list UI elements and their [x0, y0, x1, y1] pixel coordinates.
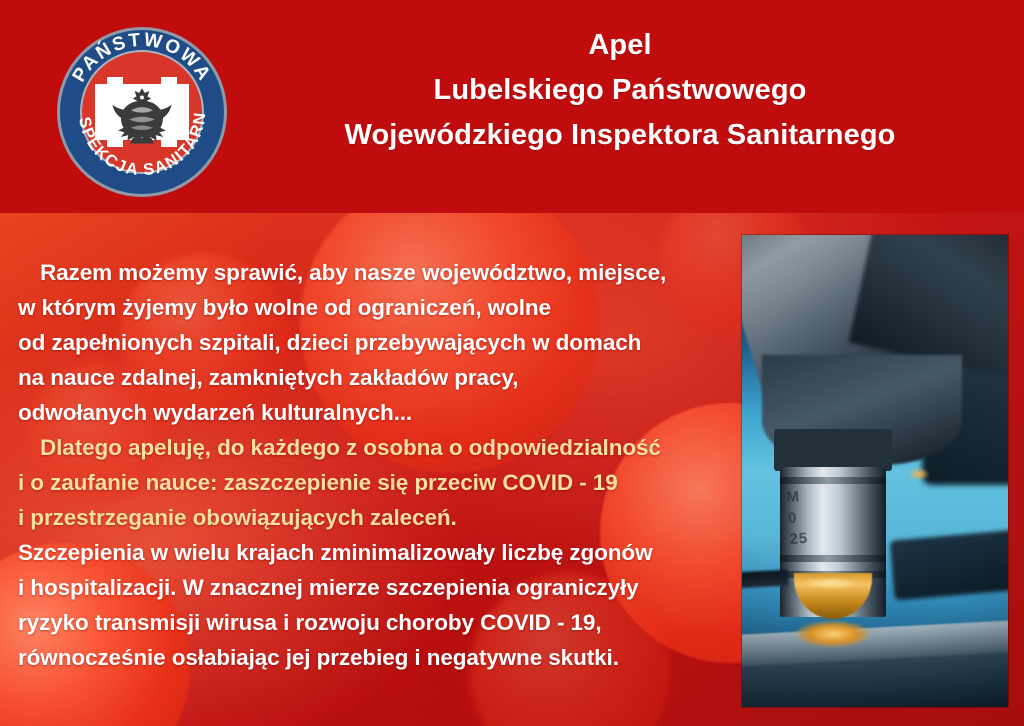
poster-body-text: Razem możemy sprawić, aby nasze wojewódz… — [0, 213, 740, 726]
text-line: i przestrzeganie obowiązujących zaleceń. — [18, 500, 740, 535]
text-line: na nauce zdalnej, zamkniętych zakładów p… — [18, 360, 740, 395]
microscope-slide-holder — [742, 570, 788, 589]
para-2: Dlatego apeluję, do każdego z osobna o o… — [18, 430, 740, 535]
poster: PAŃSTWOWA INSPEKCJA SANITARNA Apel Lubel… — [0, 0, 1024, 726]
text-line: i hospitalizacji. W znacznej mierze szcz… — [18, 570, 740, 605]
microscope-knurled-ring — [774, 429, 892, 471]
panstwowa-inspekcja-sanitarna-logo: PAŃSTWOWA INSPEKCJA SANITARNA — [56, 26, 228, 198]
text-line: Razem możemy sprawić, aby nasze wojewódz… — [18, 255, 740, 290]
microscope-engraving: M025 — [786, 483, 850, 550]
text-line: odwołanych wydarzeń kulturalnych... — [18, 395, 740, 430]
title-line-2: Lubelskiego Państwowego — [240, 68, 1000, 113]
text-line: ryzyko transmisji wirusa i rozwoju choro… — [18, 605, 740, 640]
poster-header: PAŃSTWOWA INSPEKCJA SANITARNA Apel Lubel… — [0, 0, 1024, 213]
microscope-stage-clip — [890, 529, 1008, 600]
engraving-line: 25 — [789, 525, 850, 550]
title-line-3: Wojewódzkiego Inspektora Sanitarnego — [240, 113, 1000, 158]
para-1: Razem możemy sprawić, aby nasze wojewódz… — [18, 255, 740, 430]
microscope-lens-reflection — [796, 621, 870, 647]
text-line: w którym żyjemy było wolne od ograniczeń… — [18, 290, 740, 325]
text-line: Dlatego apeluję, do każdego z osobna o o… — [18, 430, 740, 465]
microscope-barrel-ring — [780, 555, 886, 562]
poster-title: Apel Lubelskiego Państwowego Wojewódzkie… — [240, 23, 1000, 158]
microscope-light-spot — [910, 469, 928, 479]
para-3: Szczepienia w wielu krajach zminimalizow… — [18, 535, 740, 675]
title-line-1: Apel — [240, 23, 1000, 68]
text-line: od zapełnionych szpitali, dzieci przebyw… — [18, 325, 740, 360]
text-line: i o zaufanie nauce: zaszczepienie się pr… — [18, 465, 740, 500]
text-line: równocześnie osłabiając jej przebieg i n… — [18, 640, 740, 675]
text-line: Szczepienia w wielu krajach zminimalizow… — [18, 535, 740, 570]
microscope-lens-highlight — [802, 577, 860, 589]
microscope-photo: M025 — [742, 235, 1008, 707]
